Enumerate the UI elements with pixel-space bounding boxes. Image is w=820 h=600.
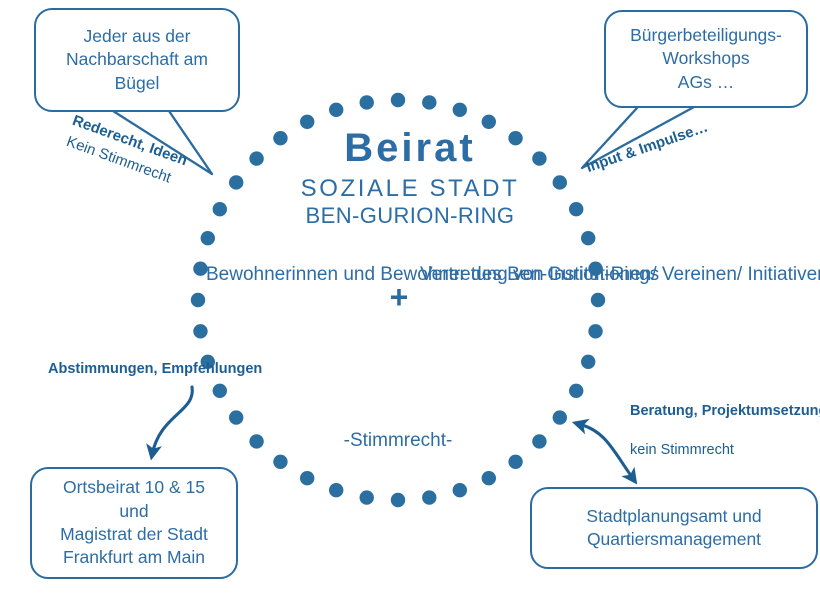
ring-dot bbox=[581, 231, 595, 245]
box-stadtplanungsamt[interactable]: Stadtplanungsamt und Quartiersmanagement bbox=[530, 487, 818, 569]
box-ortsbeirat-line-4: Frankfurt am Main bbox=[63, 546, 205, 569]
group-institutions: Vertretung von Institutionen/ Vereinen/ … bbox=[420, 262, 588, 289]
ring-dot bbox=[360, 95, 374, 109]
ring-dot bbox=[191, 293, 205, 307]
box-ortsbeirat-line-3: Magistrat der Stadt bbox=[60, 523, 208, 546]
ring-dot bbox=[508, 455, 522, 469]
box-stadtplanungsamt-line-2: Quartiersmanagement bbox=[587, 528, 761, 551]
annotation-beratung-line-1: Beratung, bbox=[630, 403, 698, 419]
box-stadtplanungsamt-line-1: Stadtplanungsamt und bbox=[586, 505, 761, 528]
ring-dot bbox=[391, 493, 405, 507]
callout-neighbourhood[interactable]: Jeder aus der Nachbarschaft am Bügel bbox=[34, 8, 240, 112]
ring-dot bbox=[213, 384, 227, 398]
callout-neighbourhood-line-2: Nachbarschaft am bbox=[66, 48, 208, 71]
page-subtitle-secondary: BEN-GURION-RING bbox=[0, 203, 820, 229]
ring-dot bbox=[329, 483, 343, 497]
callout-neighbourhood-line-3: Bügel bbox=[115, 72, 160, 95]
ring-dot bbox=[300, 471, 314, 485]
ring-dot bbox=[273, 455, 287, 469]
annotation-beratung-line-2: Projektumsetzung bbox=[702, 403, 820, 419]
annotation-beratung: Beratung, Projektumsetzung bbox=[630, 402, 820, 421]
ring-dot bbox=[532, 434, 546, 448]
ring-dot bbox=[193, 324, 207, 338]
ring-dot bbox=[588, 324, 602, 338]
diagram-canvas: Jeder aus der Nachbarschaft am Bügel Bür… bbox=[0, 0, 820, 600]
callout-participation-line-1: Bürgerbeteiligungs- bbox=[630, 24, 782, 47]
ring-dot bbox=[453, 483, 467, 497]
group-institutions-line-1: Vertretung bbox=[420, 264, 508, 285]
annotation-abstimmungen-line-2: Empfehlungen bbox=[162, 361, 263, 377]
ring-dot bbox=[591, 293, 605, 307]
arrow-to-ortsbeirat bbox=[152, 387, 192, 455]
ring-dot bbox=[422, 490, 436, 504]
ring-dot bbox=[569, 384, 583, 398]
group-institutions-line-2: von bbox=[513, 264, 544, 285]
ring-dot bbox=[201, 231, 215, 245]
ring-dot bbox=[391, 93, 405, 107]
box-ortsbeirat[interactable]: Ortsbeirat 10 & 15 und Magistrat der Sta… bbox=[30, 467, 238, 579]
callout-neighbourhood-line-1: Jeder aus der bbox=[83, 25, 190, 48]
annotation-kein-stimmrecht-right: kein Stimmrecht bbox=[630, 441, 734, 460]
group-institutions-line-5: Initiativen bbox=[747, 264, 820, 285]
ring-dot bbox=[581, 355, 595, 369]
callout-participation-line-2: Workshops bbox=[662, 47, 749, 70]
ring-dot bbox=[453, 103, 467, 117]
ring-dot bbox=[482, 471, 496, 485]
ring-dot bbox=[422, 95, 436, 109]
page-subtitle: SOZIALE STADT bbox=[0, 175, 820, 203]
ring-dot bbox=[360, 490, 374, 504]
box-ortsbeirat-line-1: Ortsbeirat 10 & 15 bbox=[63, 476, 205, 499]
ring-dot bbox=[553, 410, 567, 424]
ring-dot bbox=[329, 103, 343, 117]
group-residents-line-1: Bewohnerinnen bbox=[206, 264, 338, 285]
ring-dot bbox=[229, 410, 243, 424]
callout-participation-line-3: AGs … bbox=[678, 71, 734, 94]
annotation-abstimmungen-line-1: Abstimmungen, bbox=[48, 361, 158, 377]
box-ortsbeirat-line-2: und bbox=[119, 500, 148, 523]
voting-rights-note: -Stimmrecht- bbox=[278, 430, 518, 452]
group-institutions-line-4: Vereinen/ bbox=[662, 264, 742, 285]
group-residents: Bewohnerinnen und Bewohner des Ben-Gurio… bbox=[206, 262, 396, 289]
arrow-stadtplanung-bidirectional bbox=[582, 425, 634, 480]
callout-participation[interactable]: Bürgerbeteiligungs- Workshops AGs … bbox=[604, 10, 808, 108]
ring-dot bbox=[249, 434, 263, 448]
annotation-abstimmungen: Abstimmungen, Empfehlungen bbox=[48, 360, 262, 379]
group-institutions-line-3: Institutionen/ bbox=[549, 264, 657, 285]
plus-icon: + bbox=[378, 279, 420, 316]
